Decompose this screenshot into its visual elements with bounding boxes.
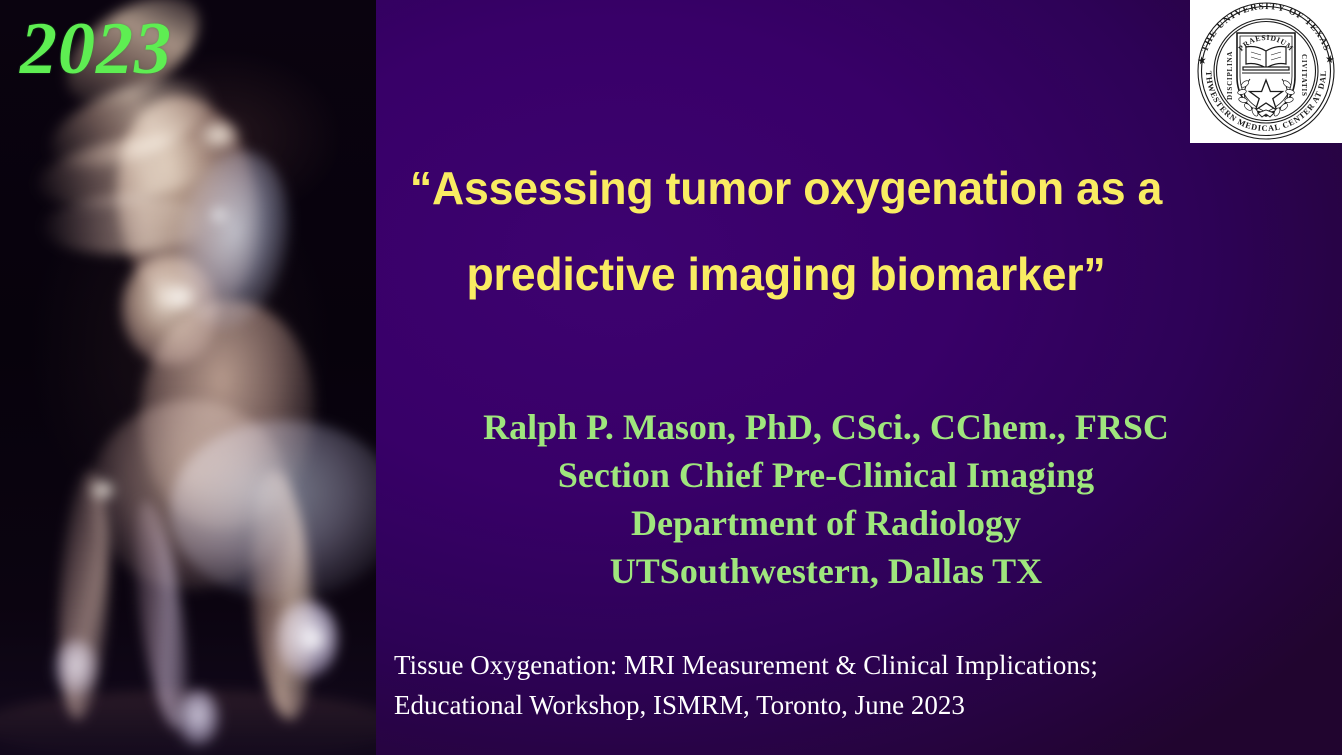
title-line-1: “Assessing tumor oxygenation as a: [398, 145, 1174, 231]
year-label: 2023: [20, 12, 172, 86]
footer-line-2: Educational Workshop, ISMRM, Toronto, Ju…: [394, 685, 1264, 725]
title-line-2: predictive imaging biomarker”: [398, 231, 1174, 317]
specular-highlight: [88, 478, 118, 502]
svg-text:DISCIPLINA: DISCIPLINA: [1226, 51, 1234, 100]
slide-title: “Assessing tumor oxygenation as a predic…: [386, 145, 1186, 317]
horse-sculpture-photo: 2023: [0, 0, 376, 755]
ground-shadow: [0, 690, 376, 755]
presentation-slide: 2023 ★ THE UNIVERSITY OF TEXAS ★ SOUTHWE…: [0, 0, 1342, 755]
footer-line-1: Tissue Oxygenation: MRI Measurement & Cl…: [394, 645, 1264, 685]
author-affiliation-block: Ralph P. Mason, PhD, CSci., CChem., FRSC…: [386, 403, 1266, 595]
ut-southwestern-seal-logo: ★ THE UNIVERSITY OF TEXAS ★ SOUTHWESTERN…: [1190, 0, 1342, 143]
horse-sculpture-illustration: [0, 0, 376, 755]
specular-highlight: [160, 282, 200, 312]
svg-text:CIVITATIS: CIVITATIS: [1300, 54, 1308, 97]
author-department: Department of Radiology: [386, 499, 1266, 547]
author-name: Ralph P. Mason, PhD, CSci., CChem., FRSC: [386, 403, 1266, 451]
specular-highlight: [196, 118, 242, 152]
specular-highlight: [208, 206, 230, 224]
specular-highlight: [300, 630, 326, 650]
horse-hoof-shape: [54, 640, 98, 696]
author-institution: UTSouthwestern, Dallas TX: [386, 547, 1266, 595]
author-role: Section Chief Pre-Clinical Imaging: [386, 451, 1266, 499]
seal-icon: ★ THE UNIVERSITY OF TEXAS ★ SOUTHWESTERN…: [1190, 0, 1342, 143]
event-footer: Tissue Oxygenation: MRI Measurement & Cl…: [394, 645, 1264, 725]
